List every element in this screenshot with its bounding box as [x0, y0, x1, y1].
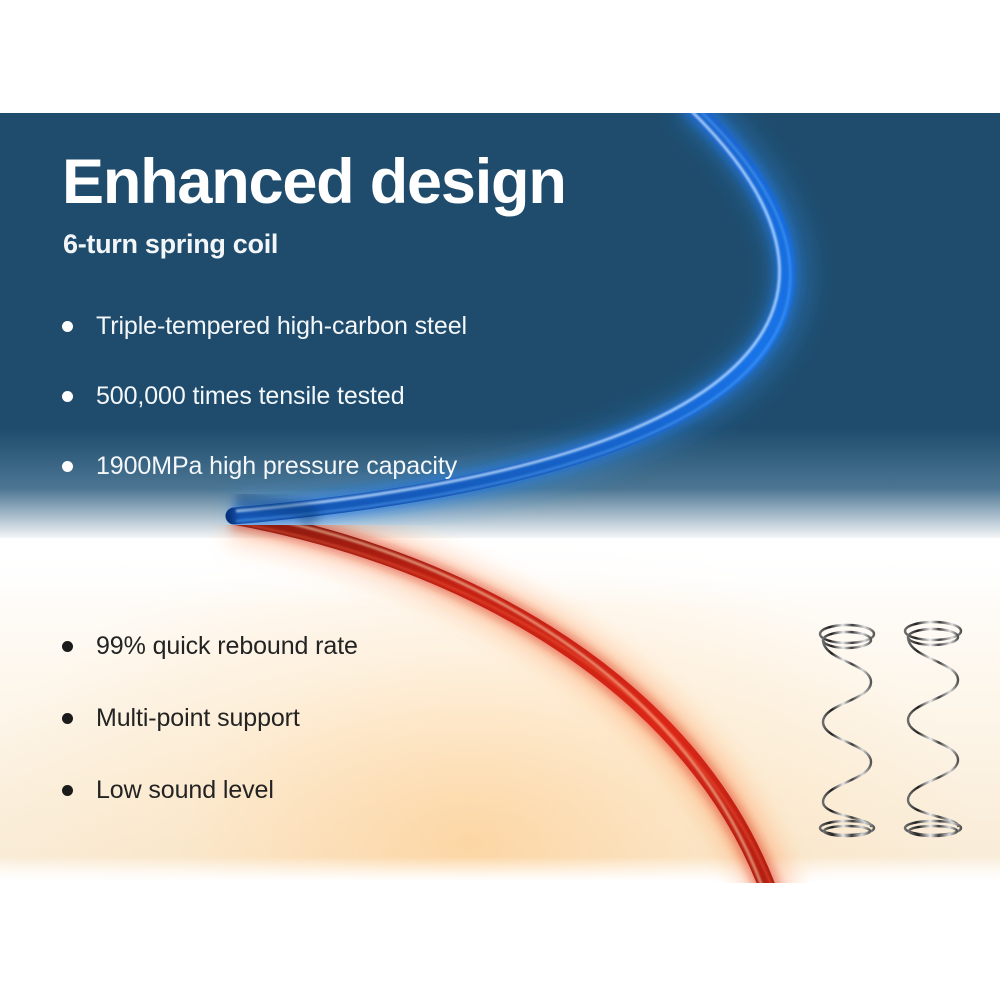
bonnell-spring-1 [812, 620, 882, 838]
bullet-dot-icon [62, 461, 73, 472]
bullet-dot-icon [62, 785, 73, 796]
list-item: 99% quick rebound rate [62, 632, 358, 661]
feature-text: 99% quick rebound rate [96, 632, 358, 661]
bullet-dot-icon [62, 641, 73, 652]
bullet-dot-icon [62, 391, 73, 402]
page-subtitle: 6-turn spring coil [63, 229, 278, 260]
bonnell-spring-2 [897, 617, 969, 839]
feature-list-bottom: 99% quick rebound rate Multi-point suppo… [62, 632, 358, 848]
feature-text: Triple-tempered high-carbon steel [96, 312, 467, 341]
page-title: Enhanced design [62, 150, 566, 214]
bullet-dot-icon [62, 321, 73, 332]
feature-text: Multi-point support [96, 704, 300, 733]
list-item: 1900MPa high pressure capacity [62, 452, 467, 481]
list-item: Low sound level [62, 776, 358, 805]
feature-text: Low sound level [96, 776, 274, 805]
list-item: Multi-point support [62, 704, 358, 733]
list-item: Triple-tempered high-carbon steel [62, 312, 467, 341]
product-feature-poster: Enhanced design 6-turn spring coil Tripl… [0, 0, 1000, 1000]
list-item: 500,000 times tensile tested [62, 382, 467, 411]
feature-text: 1900MPa high pressure capacity [96, 452, 457, 481]
feature-text: 500,000 times tensile tested [96, 382, 405, 411]
bullet-dot-icon [62, 713, 73, 724]
feature-list-top: Triple-tempered high-carbon steel 500,00… [62, 312, 467, 522]
